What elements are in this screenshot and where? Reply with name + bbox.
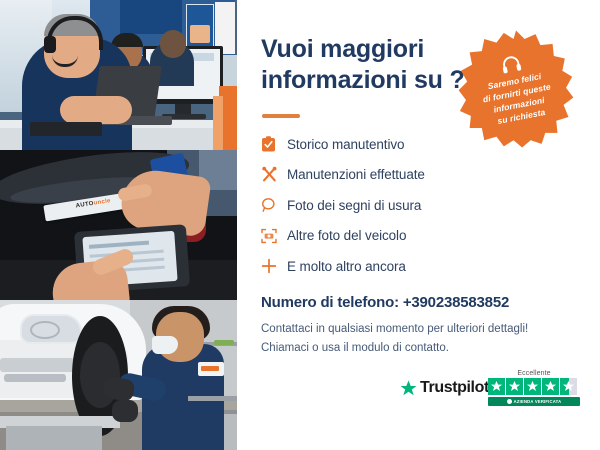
list-item-label: E molto altro ancora [287,259,406,274]
trustpilot-star-icon [400,380,417,397]
trustpilot-name: Trustpilot [420,379,489,397]
content-panel: Vuoi maggiori informazioni su ? Saremo f… [237,0,600,450]
mechanic-wheel-photo [0,300,237,450]
title-divider [262,114,300,118]
list-item: Storico manutentivo [261,130,511,158]
verified-label: AZIENDA VERIFICATA [514,399,562,404]
star-5 [560,378,577,395]
trustpilot-widget[interactable]: Trustpilot Eccellente AZIENDA VERIFICATA [400,370,580,418]
trustpilot-stars [488,378,580,395]
plus-icon [261,258,287,274]
magnifier-icon [261,197,287,213]
clipboard-check-icon [261,136,287,152]
phone-number[interactable]: Numero di telefono: +390238583852 [261,294,509,311]
list-item-label: Manutenzioni effettuate [287,167,425,182]
verified-badge: AZIENDA VERIFICATA [488,397,580,406]
headset-icon [499,53,524,75]
vehicle-inspection-photo: AUTOuncle [0,150,237,300]
list-item: Foto dei segni di usura [261,191,511,219]
star-4 [542,378,559,395]
contact-subtext: Contattaci in qualsiasi momento per ulte… [261,320,561,358]
trustpilot-logo: Trustpilot [400,379,489,397]
star-3 [524,378,541,395]
trustpilot-rating-label: Eccellente [488,370,580,377]
feature-list: Storico manutentivo Manutenzioni effettu… [261,130,511,283]
list-item: Altre foto del veicolo [261,222,511,250]
tools-cross-icon [261,166,287,183]
star-1 [488,378,505,395]
list-item: E molto altro ancora [261,252,511,280]
list-item-label: Storico manutentivo [287,137,404,152]
contact-subtext-line2: Chiamaci o usa il modulo di contatto. [261,339,561,358]
star-2 [506,378,523,395]
verified-check-icon [507,399,512,404]
list-item-label: Foto dei segni di usura [287,198,421,213]
contact-subtext-line1: Contattaci in qualsiasi momento per ulte… [261,320,561,339]
trustpilot-rating: Eccellente AZIENDA VERIFICATA [488,370,580,406]
photo-column: AUTOuncle [0,0,237,450]
photo-scan-icon [261,228,287,244]
call-center-photo [0,0,237,150]
list-item-label: Altre foto del veicolo [287,228,406,243]
promo-card: AUTOuncle Vuoi maggiori informazioni su … [0,0,600,450]
list-item: Manutenzioni effettuate [261,161,511,189]
